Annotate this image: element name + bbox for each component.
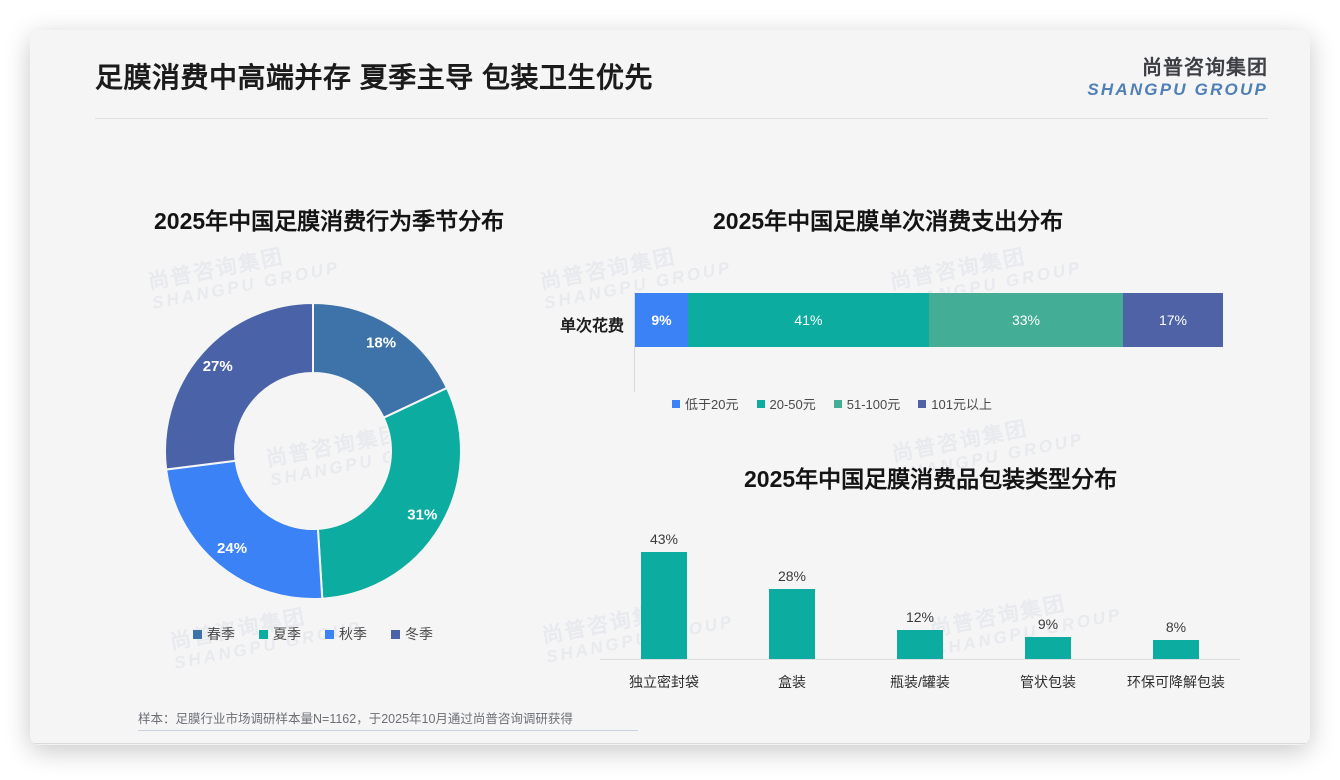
- bar-value-label: 9%: [1038, 616, 1058, 632]
- bar-category-label: 瓶装/罐装: [856, 672, 984, 692]
- stacked-segment-51-100元[interactable]: 33%: [929, 293, 1123, 347]
- donut-slice-label: 27%: [203, 358, 233, 375]
- legend-item-秋季[interactable]: 秋季: [325, 624, 367, 644]
- legend-item-低于20元[interactable]: 低于20元: [672, 394, 738, 413]
- legend-swatch-icon: [325, 630, 334, 639]
- donut-slice-秋季: [166, 461, 322, 599]
- legend-swatch-icon: [259, 630, 268, 639]
- bar-rect[interactable]: [897, 630, 943, 660]
- legend-label: 低于20元: [685, 394, 738, 413]
- legend-item-冬季[interactable]: 冬季: [391, 624, 433, 644]
- seasonal-donut-chart: 18%31%24%27%: [160, 298, 466, 604]
- bar-plot-area: 43%28%12%9%8%: [600, 508, 1240, 660]
- bar-value-label: 28%: [778, 568, 806, 584]
- package-chart-title: 2025年中国足膜消费品包装类型分布: [744, 460, 1117, 494]
- donut-slice-label: 31%: [407, 507, 437, 524]
- bar-rect[interactable]: [1153, 640, 1199, 660]
- bar-rect[interactable]: [769, 589, 815, 660]
- donut-slice-label: 24%: [217, 540, 247, 557]
- donut-slice-label: 18%: [366, 335, 396, 352]
- stacked-chart-title: 2025年中国足膜单次消费支出分布: [713, 202, 1063, 236]
- legend-label: 51-100元: [847, 394, 900, 413]
- page-title: 足膜消费中高端并存 夏季主导 包装卫生优先: [95, 56, 653, 96]
- legend-label: 夏季: [273, 624, 301, 644]
- header-divider: [95, 118, 1268, 119]
- legend-label: 春季: [207, 624, 235, 644]
- bar-category-label: 环保可降解包装: [1112, 672, 1240, 692]
- donut-slice-夏季: [318, 388, 461, 599]
- bar-value-label: 8%: [1166, 619, 1186, 635]
- legend-item-51-100元[interactable]: 51-100元: [834, 394, 900, 413]
- bar-value-label: 12%: [906, 609, 934, 625]
- stacked-segment-低于20元[interactable]: 9%: [635, 293, 688, 347]
- legend-item-20-50元[interactable]: 20-50元: [757, 394, 816, 413]
- legend-item-春季[interactable]: 春季: [193, 624, 235, 644]
- bar-rect[interactable]: [1025, 637, 1071, 660]
- legend-swatch-icon: [672, 400, 680, 408]
- bar-column-盒装[interactable]: 28%: [728, 508, 856, 660]
- stacked-segment-20-50元[interactable]: 41%: [688, 293, 929, 347]
- bar-column-环保可降解包装[interactable]: 8%: [1112, 508, 1240, 660]
- legend-swatch-icon: [757, 400, 765, 408]
- donut-legend: 春季夏季秋季冬季: [160, 624, 466, 644]
- legend-label: 秋季: [339, 624, 367, 644]
- donut-slice-冬季: [165, 303, 313, 470]
- bar-rect[interactable]: [641, 552, 687, 660]
- stacked-bar-track: 9%41%33%17%: [635, 293, 1223, 347]
- logo-en-text: SHANGPU GROUP: [1087, 81, 1268, 99]
- slide-header: 足膜消费中高端并存 夏季主导 包装卫生优先 尚普咨询集团 SHANGPU GRO…: [30, 30, 1310, 118]
- bar-column-管状包装[interactable]: 9%: [984, 508, 1112, 660]
- stacked-category-label: 单次花费: [532, 312, 624, 336]
- legend-swatch-icon: [391, 630, 400, 639]
- bar-value-label: 43%: [650, 531, 678, 547]
- sample-footnote: 样本：足膜行业市场调研样本量N=1162，于2025年10月通过尚普咨询调研获得: [138, 708, 573, 727]
- watermark-cn: 尚普咨询集团: [145, 230, 338, 296]
- bar-category-label: 盒装: [728, 672, 856, 692]
- legend-item-101元以上[interactable]: 101元以上: [918, 394, 992, 413]
- bar-baseline: [600, 659, 1240, 660]
- legend-label: 101元以上: [931, 394, 992, 413]
- legend-label: 冬季: [405, 624, 433, 644]
- bar-category-label: 独立密封袋: [600, 672, 728, 692]
- bar-column-瓶装/罐装[interactable]: 12%: [856, 508, 984, 660]
- watermark-cn: 尚普咨询集团: [887, 230, 1080, 296]
- bar-column-独立密封袋[interactable]: 43%: [600, 508, 728, 660]
- donut-svg: 18%31%24%27%: [160, 298, 466, 604]
- legend-swatch-icon: [918, 400, 926, 408]
- footnote-divider: [138, 730, 638, 731]
- stacked-legend: 低于20元20-50元51-100元101元以上: [532, 394, 1132, 413]
- watermark-cn: 尚普咨询集团: [537, 230, 730, 296]
- package-bar-chart: 43%28%12%9%8% 独立密封袋盒装瓶装/罐装管状包装环保可降解包装: [600, 500, 1240, 700]
- slide-card: 尚普咨询集团 SHANGPU GROUP 尚普咨询集团 SHANGPU GROU…: [30, 30, 1310, 745]
- brand-logo: 尚普咨询集团 SHANGPU GROUP: [1087, 58, 1268, 99]
- bar-category-labels: 独立密封袋盒装瓶装/罐装管状包装环保可降解包装: [600, 672, 1240, 692]
- stacked-segment-101元以上[interactable]: 17%: [1123, 293, 1223, 347]
- slide-footer: ©2025.12 SHANGPU GROUP www.shangpu-china…: [30, 744, 1310, 745]
- legend-swatch-icon: [193, 630, 202, 639]
- legend-label: 20-50元: [770, 394, 816, 413]
- legend-swatch-icon: [834, 400, 842, 408]
- bar-category-label: 管状包装: [984, 672, 1112, 692]
- donut-chart-title: 2025年中国足膜消费行为季节分布: [154, 202, 504, 236]
- logo-cn-text: 尚普咨询集团: [1087, 58, 1268, 79]
- legend-item-夏季[interactable]: 夏季: [259, 624, 301, 644]
